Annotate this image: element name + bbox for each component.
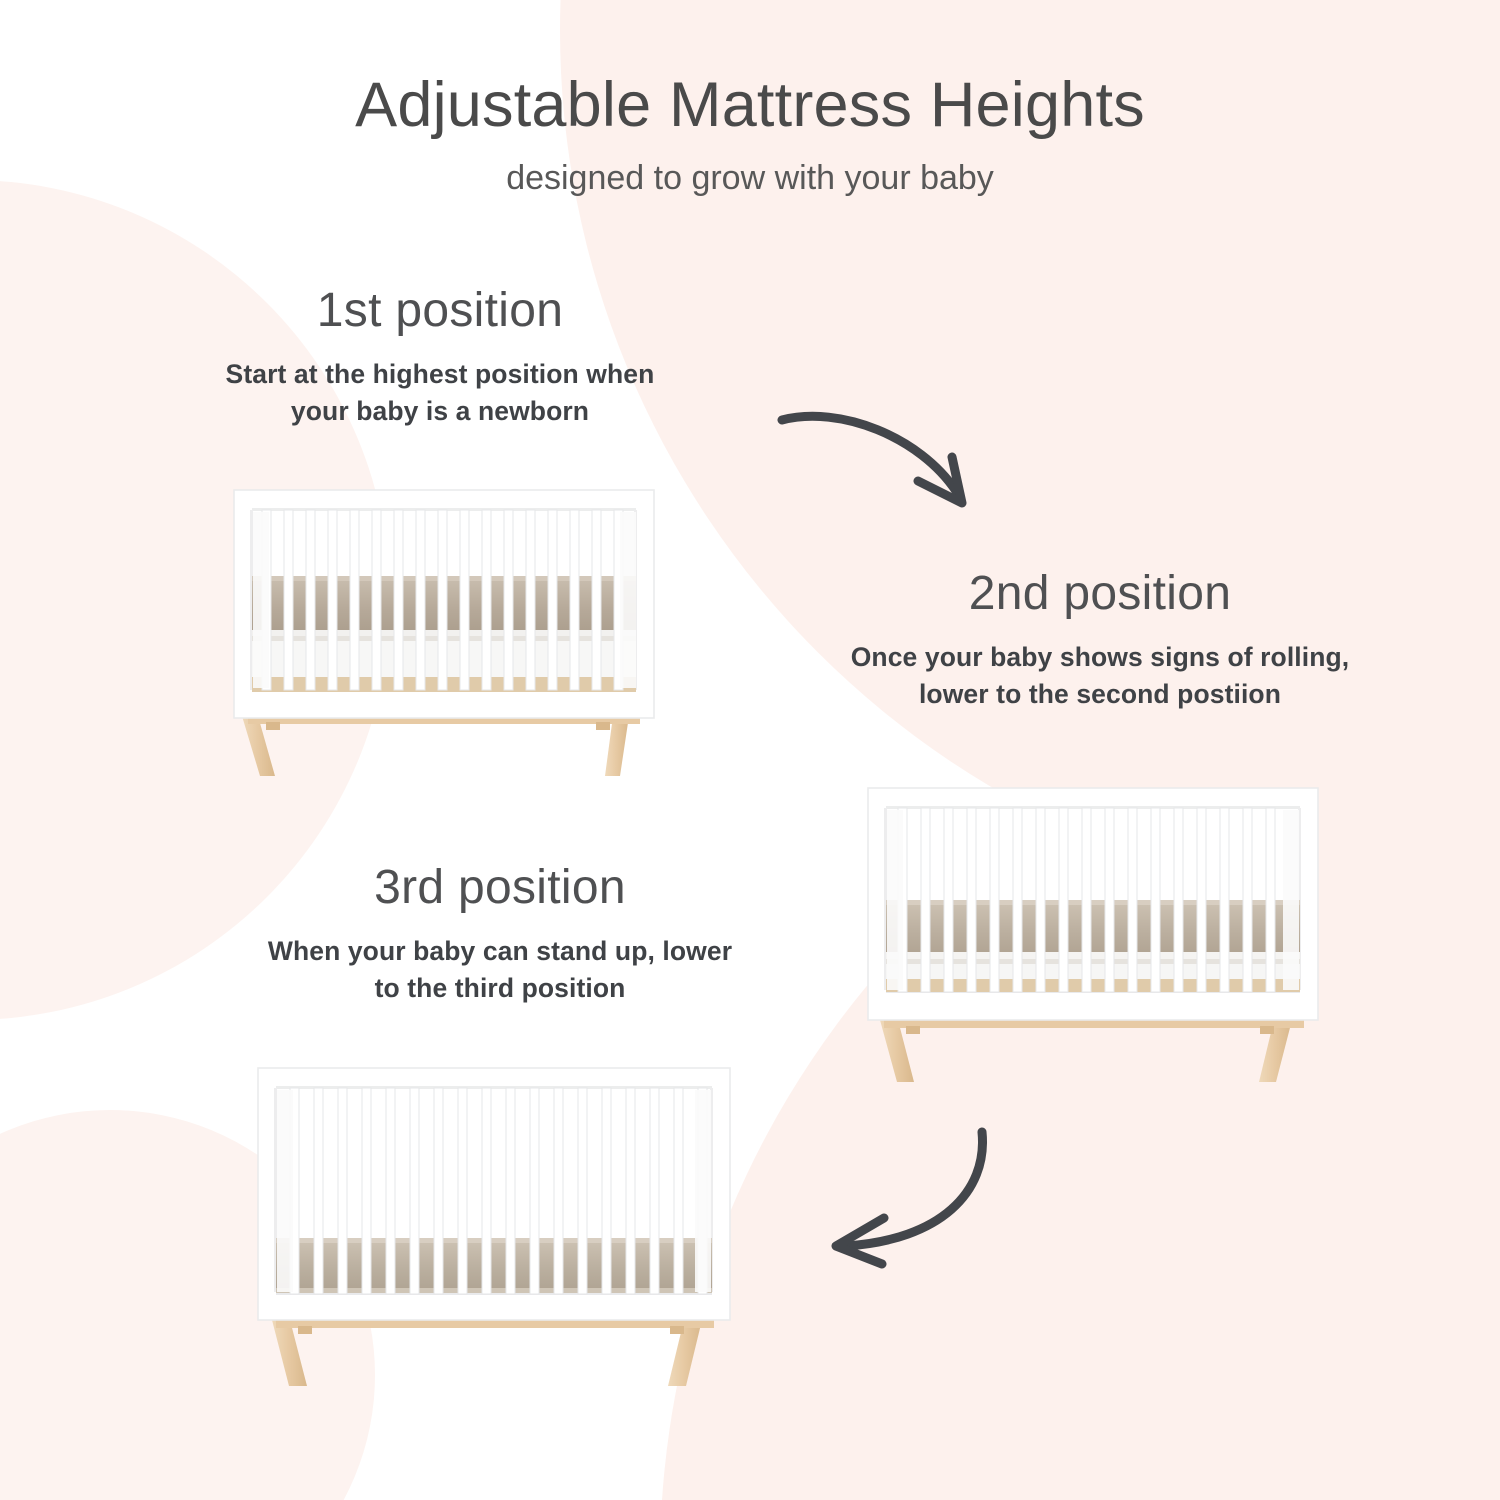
crib-image-position-3	[252, 1062, 736, 1392]
position-1-description: Start at the highest position when your …	[140, 356, 740, 431]
crib-1-right-panel	[620, 512, 636, 688]
position-3-description: When your baby can stand up, lower to th…	[190, 933, 810, 1008]
crib-3-legs	[272, 1316, 714, 1386]
crib-svg-1	[228, 484, 660, 782]
crib-3-right-panel	[695, 1090, 711, 1292]
position-2-description: Once your baby shows signs of rolling, l…	[790, 639, 1410, 714]
position-3-desc-line-1: When your baby can stand up, lower	[190, 933, 810, 971]
position-2-desc-line-1: Once your baby shows signs of rolling,	[790, 639, 1410, 677]
page-title: Adjustable Mattress Heights	[0, 72, 1500, 138]
position-1-text-block: 1st position Start at the highest positi…	[140, 285, 740, 431]
arrow-2-svg	[810, 1120, 1010, 1270]
crib-svg-2	[862, 782, 1324, 1088]
infographic-canvas: Adjustable Mattress Heights designed to …	[0, 0, 1500, 1500]
crib-1-legs	[242, 712, 640, 776]
position-1-heading: 1st position	[140, 285, 740, 338]
page-subtitle: designed to grow with your baby	[0, 158, 1500, 199]
crib-1-left-panel	[253, 512, 269, 688]
crib-2-right-panel	[1283, 810, 1299, 990]
crib-3-left-panel	[277, 1090, 293, 1292]
crib-image-position-2	[862, 782, 1324, 1088]
position-1-desc-line-2: your baby is a newborn	[140, 393, 740, 431]
position-3-desc-line-2: to the third position	[190, 970, 810, 1008]
position-2-heading: 2nd position	[790, 568, 1410, 621]
position-3-text-block: 3rd position When your baby can stand up…	[190, 862, 810, 1008]
crib-svg-3	[252, 1062, 736, 1392]
background-blobs-svg	[0, 0, 1500, 1500]
arrow-1-head	[918, 457, 962, 503]
crib-2-legs	[880, 1016, 1304, 1082]
position-2-text-block: 2nd position Once your baby shows signs …	[790, 568, 1410, 714]
position-2-desc-line-2: lower to the second postiion	[790, 676, 1410, 714]
crib-2-left-panel	[887, 810, 903, 990]
background-decoration	[0, 0, 1500, 1500]
arrow-1-curve	[782, 416, 956, 491]
arrow-position-2-to-3	[810, 1120, 1010, 1270]
arrow-position-1-to-2	[770, 395, 1000, 525]
crib-image-position-1	[228, 484, 660, 782]
position-1-desc-line-1: Start at the highest position when	[140, 356, 740, 394]
arrow-1-svg	[770, 395, 1000, 525]
position-3-heading: 3rd position	[190, 862, 810, 915]
